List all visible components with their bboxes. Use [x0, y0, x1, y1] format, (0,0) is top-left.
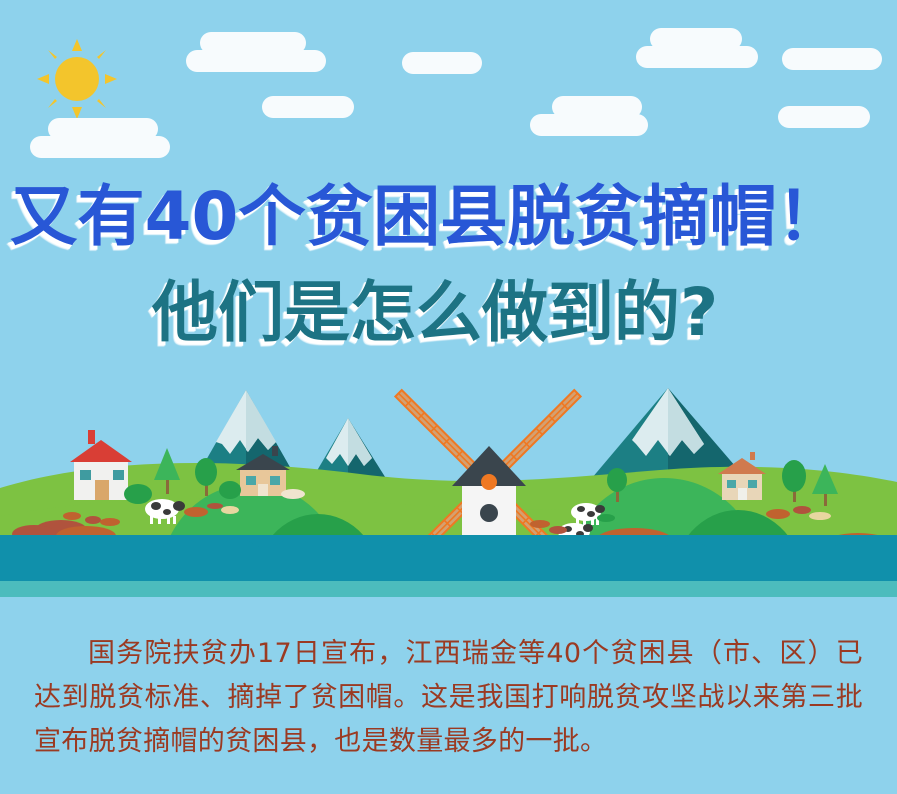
title-line-1: 又有40个贫困县脱贫摘帽！ [10, 176, 844, 258]
infographic-poster: 又有40个贫困县脱贫摘帽！ 他们是怎么做到的? [0, 0, 897, 794]
title-block: 又有40个贫困县脱贫摘帽！ 他们是怎么做到的? [0, 176, 897, 366]
water-strip [0, 581, 897, 597]
windmill-hub [481, 474, 497, 490]
water-band [0, 535, 897, 597]
sun-icon [44, 46, 110, 112]
body-text-block: 国务院扶贫办17日宣布，江西瑞金等40个贫困县（市、区）已达到脱贫标准、摘掉了贫… [0, 616, 897, 794]
title-line-2: 他们是怎么做到的? [152, 272, 718, 354]
water-wave-edge [0, 535, 897, 551]
body-paragraph: 国务院扶贫办17日宣布，江西瑞金等40个贫困县（市、区）已达到脱贫标准、摘掉了贫… [0, 616, 897, 764]
windmill-window [480, 504, 498, 522]
